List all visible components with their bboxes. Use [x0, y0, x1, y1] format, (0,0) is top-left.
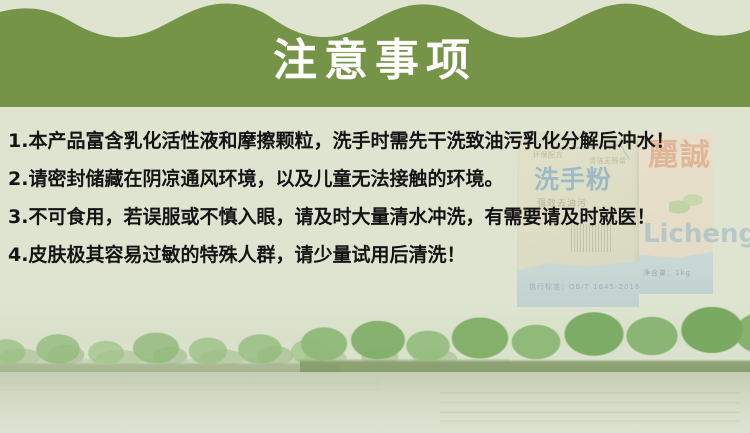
notice-list: 1.本产品富含乳化活性液和摩擦颗粒，洗手时需先干洗致油污乳化分解后冲水！ 2.请… — [8, 122, 748, 274]
product-box-standard-code: 执行标准：QB/T 1645-2016 — [529, 282, 640, 292]
page-title: 注意事项 — [0, 34, 750, 88]
notice-item-4: 4.皮肤极其容易过敏的特殊人群，请少量试用后清洗！ — [8, 236, 748, 274]
water-ripple-left — [0, 376, 380, 396]
notice-item-2: 2.请密封储藏在阴凉通风环境，以及儿童无法接触的环境。 — [8, 160, 748, 198]
notice-item-3: 3.不可食用，若误服或不慎入眼，请及时大量清水冲洗，有需要请及时就医！ — [8, 198, 748, 236]
main-treeline-layer — [300, 300, 750, 382]
left-treeline-layer — [0, 318, 340, 378]
notice-item-1: 1.本产品富含乳化活性液和摩擦颗粒，洗手时需先干洗致油污乳化分解后冲水！ — [8, 122, 748, 160]
water-ripple-right — [440, 384, 740, 428]
notice-page: 环保配方 清洁无残留 洗手粉 强效去油污 麗誠 Licheng 净含量：1kg … — [0, 0, 750, 433]
